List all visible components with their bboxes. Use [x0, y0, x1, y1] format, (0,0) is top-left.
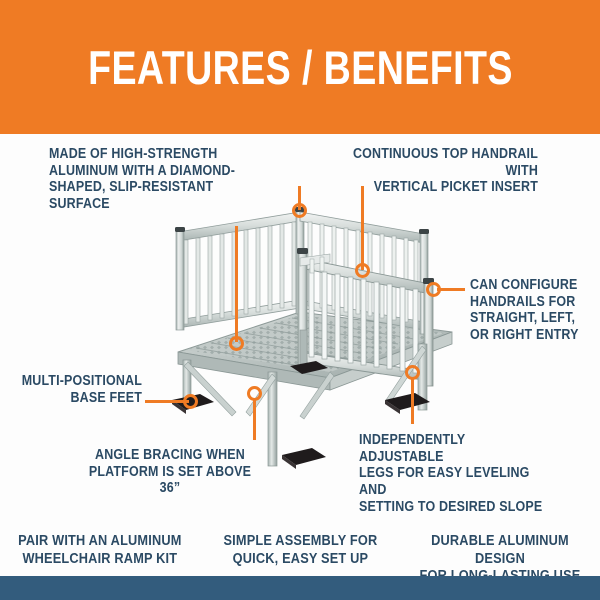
marker-deck-surface — [229, 336, 244, 351]
bottom-feature-ramp-kit: PAIR WITH AN ALUMINUM WHEELCHAIR RAMP KI… — [0, 516, 200, 568]
marker-top-handrail-a — [292, 203, 307, 218]
infographic-page: FEATURES / BENEFITS — [0, 0, 600, 600]
bottom-feature-assembly-label: SIMPLE ASSEMBLY FOR QUICK, EASY SET UP — [223, 533, 377, 568]
angle-brace-center — [300, 372, 334, 419]
bottom-feature-assembly: SIMPLE ASSEMBLY FOR QUICK, EASY SET UP — [200, 516, 400, 568]
callout-handrail-config: CAN CONFIGURE HANDRAILS FOR STRAIGHT, LE… — [470, 277, 582, 344]
callout-top-handrail: CONTINUOUS TOP HANDRAIL WITH VERTICAL PI… — [323, 146, 538, 196]
leader-line-handrail-config — [437, 288, 465, 291]
base-foot-center-front — [282, 448, 326, 465]
footer-bar — [0, 576, 600, 600]
marker-handrail-config — [426, 282, 441, 297]
leader-line-top-handrail-b — [361, 186, 364, 270]
bottom-feature-ramp-kit-label: PAIR WITH AN ALUMINUM WHEELCHAIR RAMP KI… — [18, 533, 181, 568]
callout-base-feet: MULTI-POSITIONAL BASE FEET — [20, 373, 142, 406]
marker-top-handrail-b — [355, 263, 370, 278]
handrail-left-back — [175, 207, 305, 330]
bottom-feature-row: PAIR WITH AN ALUMINUM WHEELCHAIR RAMP KI… — [0, 516, 600, 574]
callout-angle-bracing: ANGLE BRACING WHEN PLATFORM IS SET ABOVE… — [84, 447, 256, 497]
leader-line-angle-bracing — [253, 398, 256, 440]
base-foot-right — [385, 393, 430, 410]
marker-base-feet — [183, 394, 198, 409]
base-foot-back — [290, 361, 328, 374]
leader-line-adjustable-legs — [411, 378, 414, 424]
page-title: FEATURES / BENEFITS — [88, 44, 513, 91]
header-banner: FEATURES / BENEFITS — [0, 0, 600, 134]
callout-deck-surface: MADE OF HIGH-STRENGTH ALUMINUM WITH A DI… — [49, 146, 264, 213]
marker-angle-bracing — [247, 386, 262, 401]
callout-adjustable-legs: INDEPENDENTLY ADJUSTABLE LEGS FOR EASY L… — [359, 432, 548, 515]
leader-line-deck-surface — [235, 226, 238, 342]
marker-adjustable-legs — [405, 365, 420, 380]
